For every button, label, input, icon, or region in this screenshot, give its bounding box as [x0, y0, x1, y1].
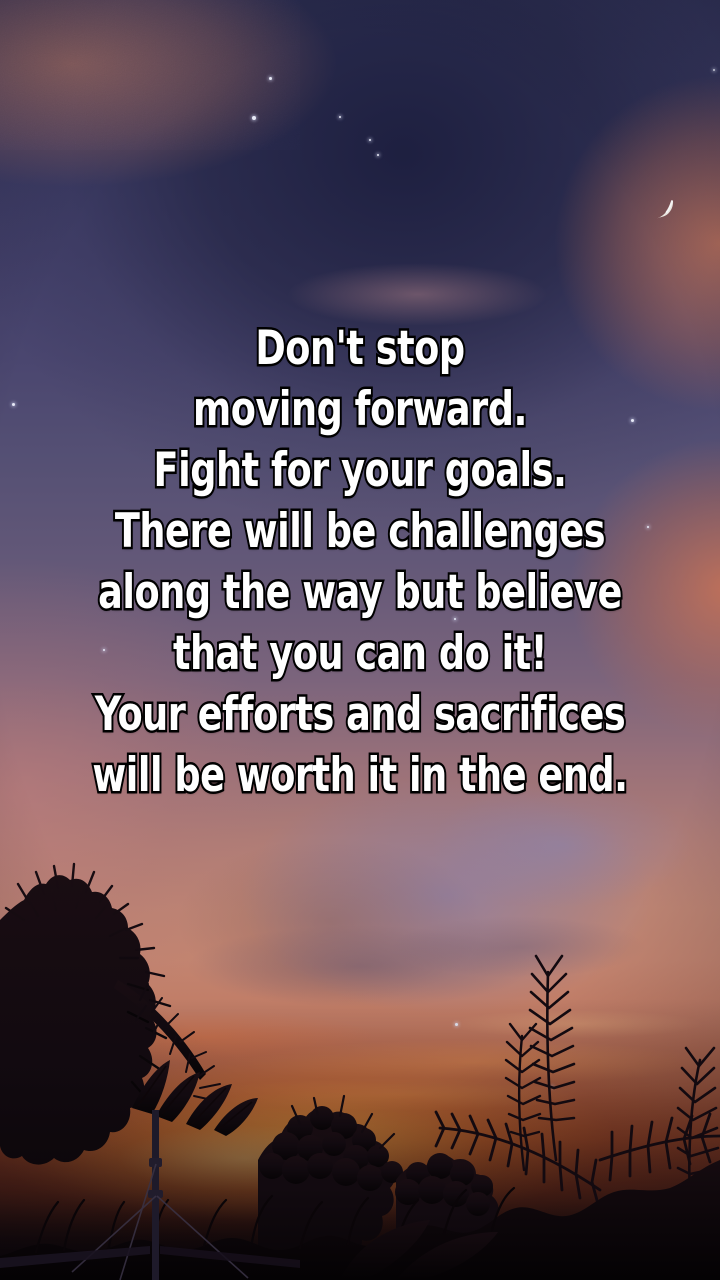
- quote-line: moving forward.: [79, 379, 641, 440]
- star: [369, 139, 371, 141]
- star: [269, 77, 272, 80]
- star: [377, 154, 379, 156]
- quote-line: Don't stop: [79, 318, 641, 379]
- quote-line: will be worth it in the end.: [79, 745, 641, 806]
- film-grain: [0, 0, 300, 150]
- foliage-silhouette: [0, 860, 720, 1280]
- left-tree-silhouette: [0, 864, 220, 1280]
- star: [713, 69, 715, 71]
- crescent-moon-icon: [655, 199, 677, 229]
- star: [339, 116, 341, 118]
- quote-line: Fight for your goals.: [79, 440, 641, 501]
- quote-text-block: Don't stop moving forward. Fight for you…: [0, 318, 720, 806]
- quote-line: that you can do it!: [79, 623, 641, 684]
- quote-line: along the way but believe: [79, 562, 641, 623]
- quote-line: Your efforts and sacrifices: [79, 684, 641, 745]
- quote-line: There will be challenges: [79, 501, 641, 562]
- star: [252, 116, 256, 120]
- wallpaper-canvas: Don't stop moving forward. Fight for you…: [0, 0, 720, 1280]
